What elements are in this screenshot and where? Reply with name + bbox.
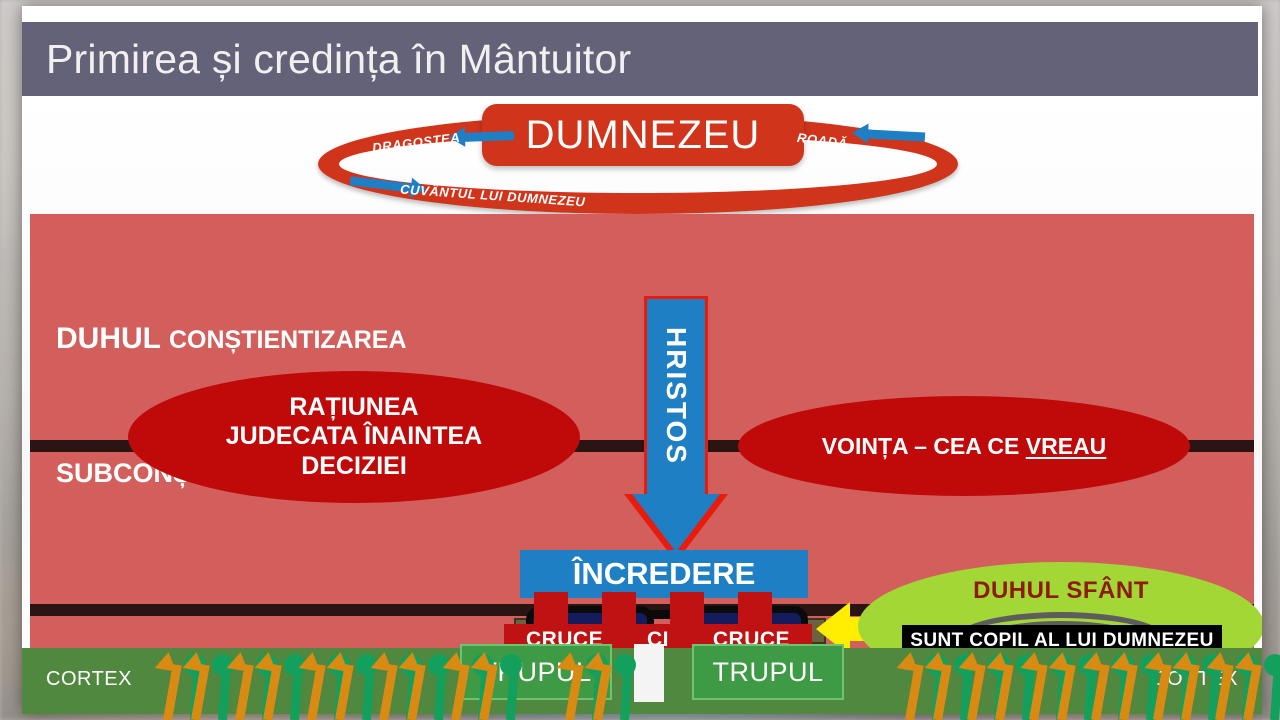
section-label-spirit-main: DUHUL: [56, 322, 161, 355]
arrow-left-icon-dragostea: [464, 131, 514, 142]
trust-box: ÎNCREDERE: [520, 550, 808, 598]
mind-panel: DUHULCONȘTIENTIZAREA SUBCONȘTIENTUL RAȚI…: [30, 214, 1254, 714]
body-box-1: TRUPUL: [460, 644, 612, 700]
will-text-underlined: VREAU: [1026, 433, 1107, 459]
cortex-label-left: CORTEX: [46, 668, 132, 691]
holy-spirit-title: DUHUL SFÂNT: [858, 577, 1262, 605]
body-box-2: TRUPUL: [692, 644, 844, 700]
god-label-text: DUMNEZEU: [526, 113, 761, 158]
section-label-spirit-sub: CONȘTIENTIZAREA: [169, 326, 407, 354]
will-ellipse: VOINȚA – CEA CE VREAU: [738, 396, 1190, 496]
cortex-label-right: CORTEX: [1152, 668, 1238, 691]
reason-line-2: JUDECATA ÎNAINTEA: [226, 422, 482, 452]
christ-down-arrow: HRISTOS: [624, 296, 728, 562]
trust-box-label: ÎNCREDERE: [573, 556, 756, 592]
reason-ellipse: RAȚIUNEA JUDECATA ÎNAINTEA DECIZIEI: [128, 371, 580, 503]
cortex-band: CORTEX CORTEX TRUPUL TRUPUL: [22, 648, 1262, 714]
christ-arrow-label: HRISTOS: [660, 327, 692, 465]
slide-content-area: DUMNEZEU DRAGOSTEA ROADĂ CUVÂNTUL LUI DU…: [22, 96, 1262, 714]
god-label-box: DUMNEZEU: [482, 104, 804, 166]
presentation-slide: Primirea și credința în Mântuitor DUMNEZ…: [22, 6, 1262, 714]
reason-line-3: DECIZIEI: [226, 452, 482, 482]
body-box-1-label: TRUPUL: [480, 657, 591, 688]
reason-line-1: RAȚIUNEA: [226, 393, 482, 423]
will-text-prefix: VOINȚA – CEA CE: [822, 433, 1026, 459]
page-title: Primirea și credința în Mântuitor: [22, 36, 631, 83]
section-label-spirit: DUHULCONȘTIENTIZAREA: [56, 322, 407, 356]
cortex-gap: [634, 644, 664, 702]
body-box-2-label: TRUPUL: [712, 657, 823, 688]
christ-arrow-label-wrap: HRISTOS: [644, 296, 708, 496]
slide-title-bar: Primirea și credința în Mântuitor: [22, 22, 1258, 96]
